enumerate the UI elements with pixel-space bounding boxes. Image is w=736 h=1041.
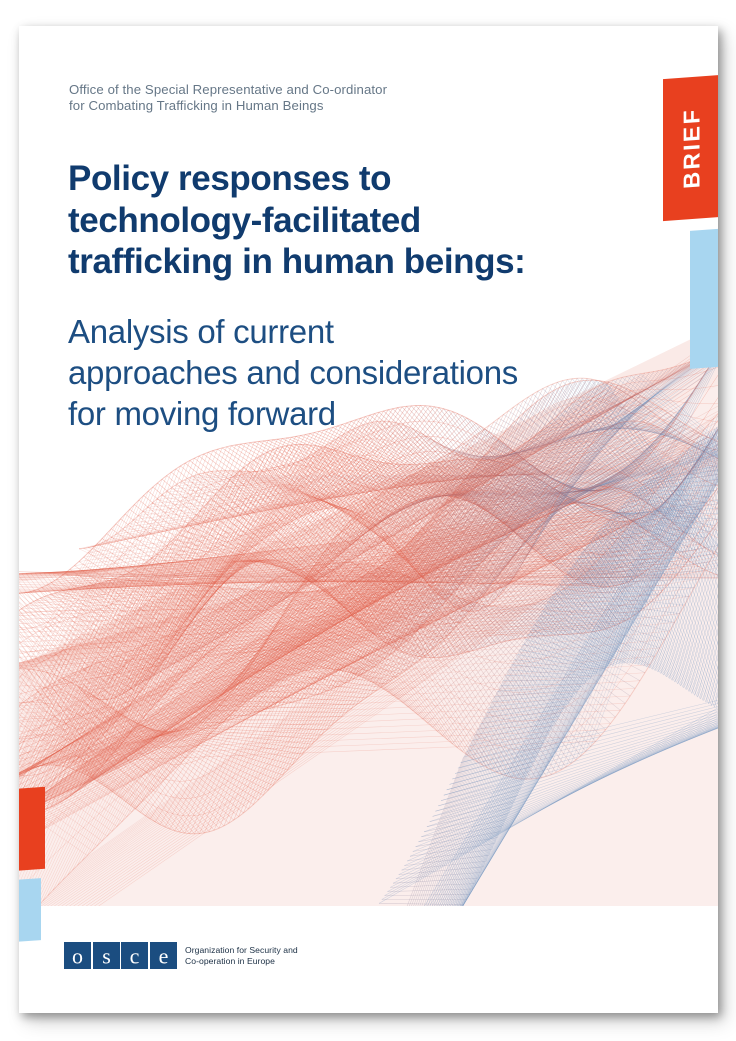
page-title-line-2: technology-facilitated [68, 200, 588, 242]
osce-logo-letter-s: s [93, 942, 120, 969]
mesh-ribbon [19, 395, 718, 876]
mesh-ribbon [19, 380, 718, 855]
cover-canvas: Office of the Special Representative and… [0, 0, 736, 1041]
osce-logo-letter-e: e [150, 942, 177, 969]
svg-text:o: o [72, 944, 83, 969]
page-title-line-1: Policy responses to [68, 158, 588, 200]
mesh-ribbon [19, 378, 718, 834]
page-title: Policy responses to technology-facilitat… [68, 158, 588, 283]
osce-logo-letter-c: c [121, 942, 148, 969]
brief-tab-label: BRIEF [678, 107, 705, 190]
svg-text:s: s [102, 944, 111, 969]
accent-block-blue-left [19, 878, 41, 943]
svg-text:e: e [158, 944, 168, 969]
organization-header-line-1: Office of the Special Representative and… [69, 82, 499, 98]
page-title-line-3: trafficking in human beings: [68, 241, 588, 283]
osce-logo-letter-o: o [64, 942, 91, 969]
organization-header-line-2: for Combating Trafficking in Human Being… [69, 98, 499, 114]
page-subtitle-line-1: Analysis of current [68, 311, 658, 352]
document-page: Office of the Special Representative and… [19, 26, 718, 1013]
osce-logo-wordmark: Organization for Security and Co-operati… [185, 945, 298, 966]
page-subtitle: Analysis of current approaches and consi… [68, 311, 658, 434]
mesh-ribbon [19, 413, 718, 906]
osce-wordmark-line-1: Organization for Security and [185, 945, 298, 956]
osce-wordmark-line-2: Co-operation in Europe [185, 956, 298, 967]
osce-logo: osce Organization for Security and Co-op… [64, 942, 298, 969]
brief-tab-badge: BRIEF [663, 75, 718, 221]
organization-header: Office of the Special Representative and… [69, 82, 499, 114]
page-subtitle-line-3: for moving forward [68, 393, 658, 434]
accent-block-orange-left [19, 787, 45, 872]
osce-logo-marks: osce [64, 942, 178, 969]
page-subtitle-line-2: approaches and considerations [68, 352, 658, 393]
svg-text:c: c [130, 944, 140, 969]
accent-block-blue-right [690, 228, 718, 369]
